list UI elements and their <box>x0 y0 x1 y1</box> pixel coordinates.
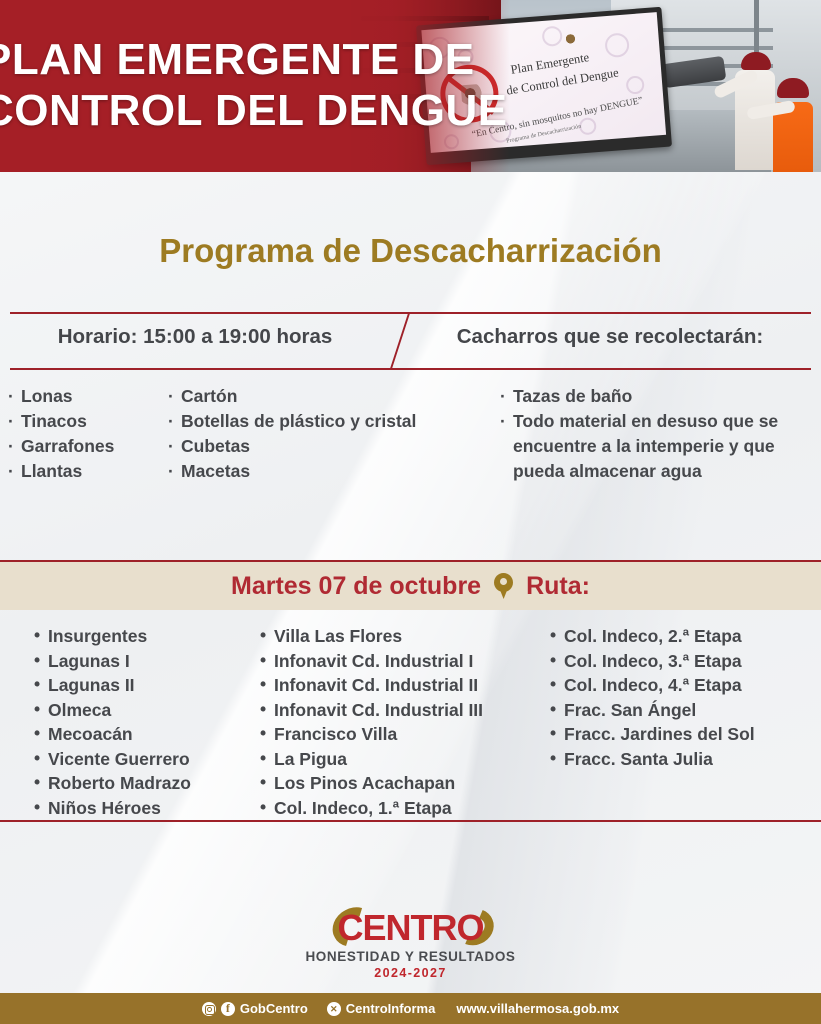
list-item: •Niños Héroes <box>32 796 262 821</box>
list-item: ·Cartón <box>168 384 488 409</box>
list-item: •Roberto Madrazo <box>32 771 262 796</box>
info-bar-top-rule <box>10 312 811 314</box>
schedule-label: Horario: 15:00 a 19:00 horas <box>0 325 390 349</box>
info-bar-bottom-rule <box>10 368 811 370</box>
list-item: •La Pigua <box>258 747 548 772</box>
bullet-icon: • <box>260 746 266 771</box>
bullet-icon: • <box>550 648 556 673</box>
bullet-icon: · <box>8 459 14 484</box>
bullet-icon: • <box>260 623 266 648</box>
list-item: •Col. Indeco, 3.ª Etapa <box>548 649 821 674</box>
list-item: •Olmeca <box>32 698 262 723</box>
list-item: •Infonavit Cd. Industrial II <box>258 673 548 698</box>
x-twitter-icon[interactable] <box>327 1002 341 1016</box>
bullet-icon: · <box>168 384 174 409</box>
list-item: •Vicente Guerrero <box>32 747 262 772</box>
list-item: ·Cubetas <box>168 434 488 459</box>
bullet-icon: • <box>34 648 40 673</box>
list-item: •Lagunas I <box>32 649 262 674</box>
bullet-icon: • <box>260 672 266 697</box>
bullet-icon: • <box>550 746 556 771</box>
header-banner: Plan Emergente de Control del Dengue “En… <box>0 0 821 172</box>
bullet-icon: · <box>168 459 174 484</box>
info-bar-divider <box>390 312 411 370</box>
list-item: ·Garrafones <box>8 434 173 459</box>
list-item: •Fracc. Santa Julia <box>548 747 821 772</box>
list-item: •Col. Indeco, 2.ª Etapa <box>548 624 821 649</box>
centro-logo: CENTRO HONESTIDAD Y RESULTADOS 2024-2027 <box>0 908 821 980</box>
route-column-3: •Col. Indeco, 2.ª Etapa •Col. Indeco, 3.… <box>548 624 821 771</box>
bullet-icon: • <box>34 623 40 648</box>
bullet-icon: • <box>260 721 266 746</box>
list-item: •Infonavit Cd. Industrial III <box>258 698 548 723</box>
list-item: •Villa Las Flores <box>258 624 548 649</box>
list-item: ·Tinacos <box>8 409 173 434</box>
collected-items-column-2: ·Cartón ·Botellas de plástico y cristal … <box>168 384 488 483</box>
list-item: •Frac. San Ángel <box>548 698 821 723</box>
social-handle-2: CentroInforma <box>346 1001 436 1016</box>
bullet-icon: • <box>260 697 266 722</box>
collected-items-column-3: ·Tazas de baño ·Todo material en desuso … <box>500 384 820 483</box>
header-title: PLAN EMERGENTE DE CONTROL DEL DENGUE <box>0 34 542 136</box>
bullet-icon: · <box>8 409 14 434</box>
bullet-icon: • <box>34 697 40 722</box>
infographic-page: Plan Emergente de Control del Dengue “En… <box>0 0 821 1024</box>
bullet-icon: • <box>550 623 556 648</box>
list-item: •Col. Indeco, 4.ª Etapa <box>548 673 821 698</box>
list-item: ·Lonas <box>8 384 173 409</box>
list-item: ·Tazas de baño <box>500 384 820 409</box>
logo-wordmark: CENTRO <box>338 907 484 948</box>
social-handle-group-1[interactable]: GobCentro <box>202 1001 308 1016</box>
bullet-icon: • <box>34 746 40 771</box>
list-item: •Fracc. Jardines del Sol <box>548 722 821 747</box>
logo-mark: CENTRO <box>338 908 484 948</box>
social-handle-1: GobCentro <box>240 1001 308 1016</box>
bullet-icon: · <box>168 434 174 459</box>
route-column-1: •Insurgentes •Lagunas I •Lagunas II •Olm… <box>32 624 262 821</box>
route-bottom-rule <box>0 820 821 822</box>
header-title-line2: CONTROL DEL DENGUE <box>0 85 542 136</box>
list-item: •Lagunas II <box>32 673 262 698</box>
list-item: ·Botellas de plástico y cristal <box>168 409 488 434</box>
route-column-2: •Villa Las Flores •Infonavit Cd. Industr… <box>258 624 548 821</box>
bullet-icon: · <box>500 409 506 434</box>
bullet-icon: · <box>500 384 506 409</box>
bullet-icon: • <box>550 697 556 722</box>
social-handle-group-2[interactable]: CentroInforma <box>327 1001 436 1016</box>
bullet-icon: • <box>34 672 40 697</box>
list-item: •Mecoacán <box>32 722 262 747</box>
photo-worker-2 <box>769 78 817 172</box>
bullet-icon: • <box>550 672 556 697</box>
bullet-icon: · <box>8 384 14 409</box>
bullet-icon: • <box>260 770 266 795</box>
header-title-line1: PLAN EMERGENTE DE <box>0 34 542 85</box>
list-item: •Infonavit Cd. Industrial I <box>258 649 548 674</box>
program-title: Programa de Descacharrización <box>0 232 821 270</box>
list-item: •Los Pinos Acachapan <box>258 771 548 796</box>
bullet-icon: • <box>34 795 40 820</box>
logo-tagline: HONESTIDAD Y RESULTADOS <box>0 949 821 964</box>
instagram-icon[interactable] <box>202 1002 216 1016</box>
route-date: Martes 07 de octubre <box>231 572 481 601</box>
bullet-icon: · <box>8 434 14 459</box>
list-item: •Francisco Villa <box>258 722 548 747</box>
list-item: •Insurgentes <box>32 624 262 649</box>
bullet-icon: • <box>260 795 266 820</box>
collected-items-heading: Cacharros que se recolectarán: <box>410 325 810 349</box>
bullet-icon: • <box>260 648 266 673</box>
bullet-icon: • <box>34 721 40 746</box>
route-label: Ruta: <box>526 572 590 601</box>
bullet-icon: • <box>550 721 556 746</box>
logo-years: 2024-2027 <box>0 966 821 980</box>
list-item: •Col. Indeco, 1.ª Etapa <box>258 796 548 821</box>
bullet-icon: • <box>34 770 40 795</box>
location-pin-icon <box>494 573 513 599</box>
footer-bar: GobCentro CentroInforma www.villahermosa… <box>0 993 821 1024</box>
banner-crest-icon <box>562 30 579 47</box>
facebook-icon[interactable] <box>221 1002 235 1016</box>
list-item: ·Llantas <box>8 459 173 484</box>
list-item: ·Macetas <box>168 459 488 484</box>
date-route-banner: Martes 07 de octubre Ruta: <box>0 562 821 610</box>
website-url[interactable]: www.villahermosa.gob.mx <box>456 1001 619 1016</box>
collected-items-column-1: ·Lonas ·Tinacos ·Garrafones ·Llantas <box>8 384 173 483</box>
bullet-icon: · <box>168 409 174 434</box>
list-item: ·Todo material en desuso que se encuentr… <box>500 409 820 484</box>
